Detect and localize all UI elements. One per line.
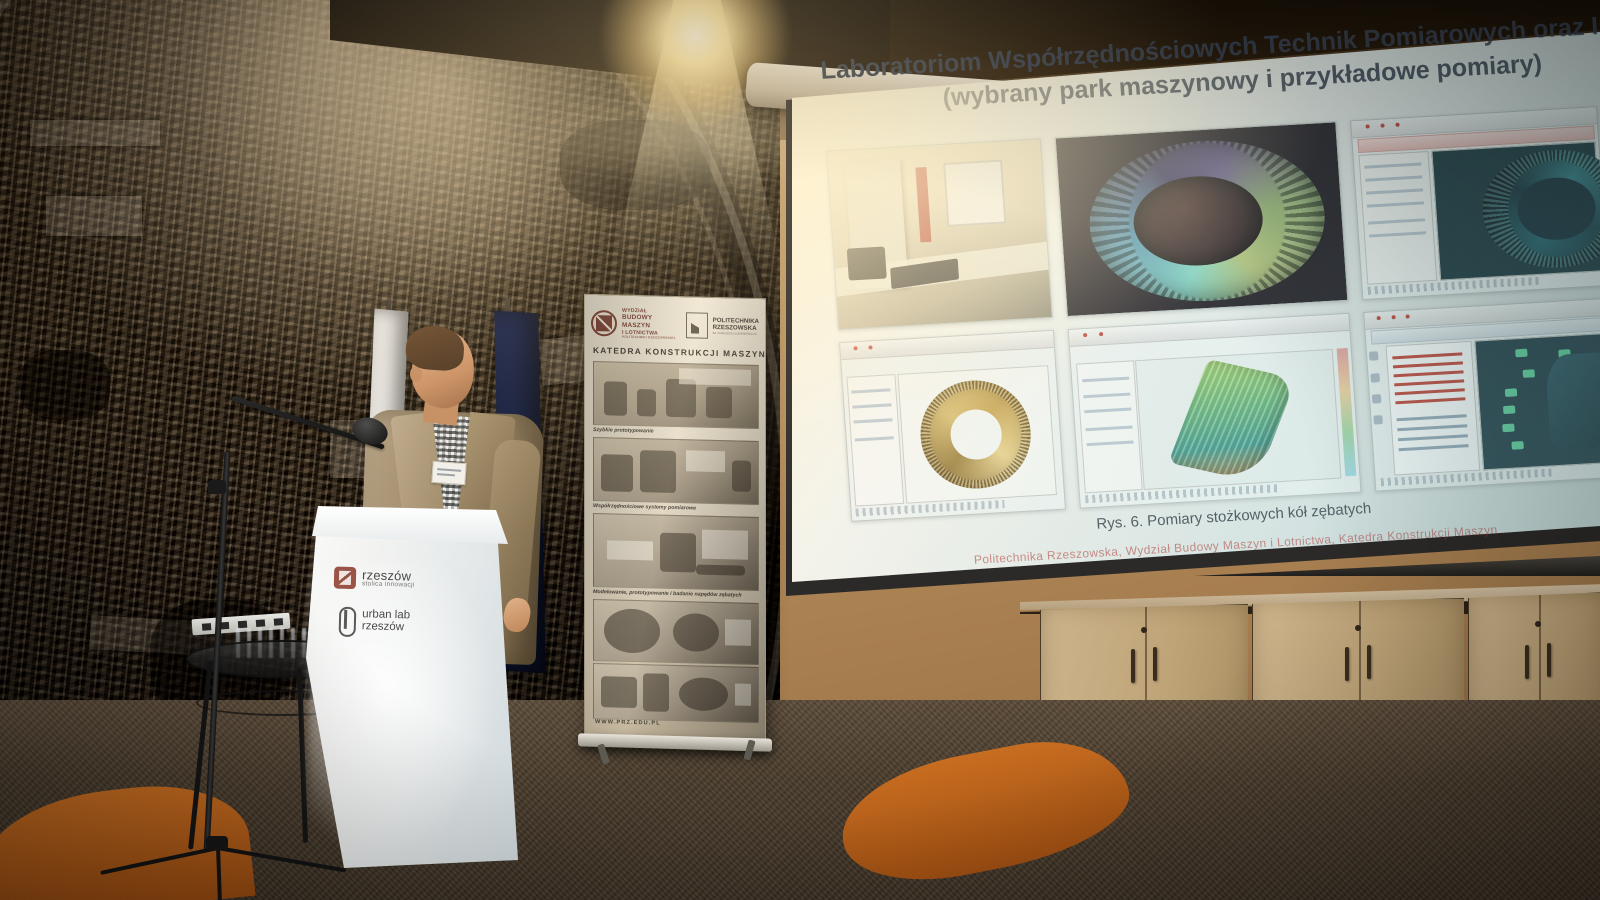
app-title-bar [840, 331, 1054, 360]
app-title-bar [1068, 314, 1349, 347]
presenter-hair [405, 324, 466, 372]
app-tree-panel [847, 374, 905, 507]
logo-urban-lab: urban lab rzeszów [336, 607, 449, 636]
rollup-banner: WYDZIAŁ BUDOWY MASZYN I LOTNICTWA POLITE… [584, 294, 766, 748]
app-3d-viewport [898, 365, 1057, 504]
app-3d-viewport [1474, 333, 1600, 471]
conference-room-scene: Laboratoriom Współrzędnościowych Technik… [0, 0, 1600, 900]
app-3d-viewport [1135, 349, 1342, 490]
ring-gear-model [917, 378, 1034, 492]
urban-lab-logo-icon [336, 607, 357, 634]
presentation-slide: Laboratoriom Współrzędnościowych Technik… [800, 0, 1600, 578]
slide-title: Laboratoriom Współrzędnościowych Technik… [809, 10, 1600, 121]
lab-equipment [846, 246, 886, 280]
logo-rzeszow: rzeszów stolica innowacji [334, 567, 445, 592]
lab-monitor [943, 159, 1007, 227]
urban-lab-line-2: rzeszów [362, 620, 410, 634]
cmm-laboratory-photo [826, 138, 1053, 330]
slide-image-row-top [826, 106, 1600, 330]
mic-tripod-hub [206, 836, 228, 850]
red-column [916, 167, 932, 242]
app-3d-viewport [1432, 141, 1600, 280]
microphone-stand-clamp[interactable] [208, 480, 226, 494]
slide-image-row-bottom [839, 298, 1600, 522]
name-badge [431, 461, 466, 485]
bevel-gear-scan-colormap [1054, 121, 1348, 317]
slide-image-grid [826, 106, 1600, 534]
cad-software-bevel-gear [1350, 106, 1600, 300]
app-tree-panel [1076, 360, 1143, 493]
banner-lighting-shade [585, 295, 765, 747]
app-tree-panel [1358, 151, 1437, 285]
rzeszow-logo-icon [334, 567, 357, 590]
tooth-flank-surface [1168, 359, 1296, 482]
tooth-flank-deviation-map [1067, 313, 1361, 509]
bevel-gear-model [1478, 146, 1600, 272]
measurement-results-table [1386, 341, 1480, 476]
ring-gear-cad-model [839, 330, 1066, 522]
rzeszow-logo-tagline: stolica innowacji [362, 582, 415, 590]
cmm-measurement-report [1363, 298, 1600, 492]
